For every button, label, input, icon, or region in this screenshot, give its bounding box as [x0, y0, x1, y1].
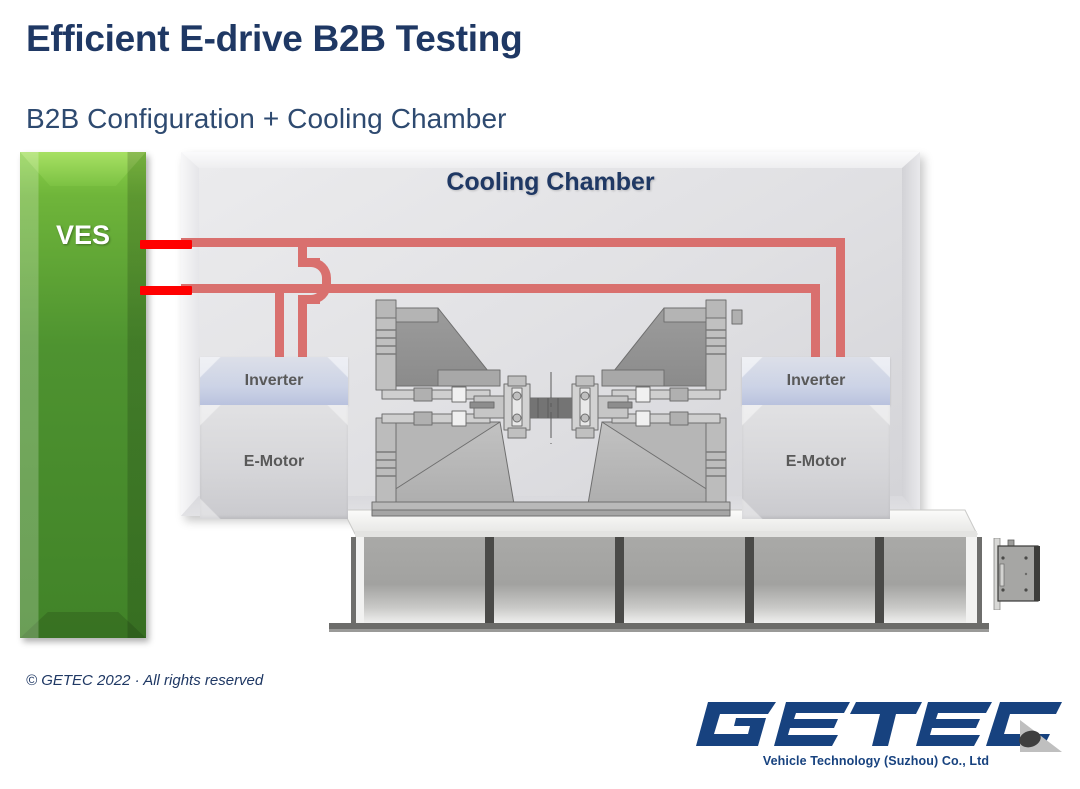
left-motor-block: E-Motor — [200, 405, 348, 519]
back-to-back-dyno-rig — [352, 292, 750, 520]
chamber-bevel-top — [181, 152, 920, 168]
left-inverter-block: Inverter — [200, 357, 348, 405]
left-inverter-label: Inverter — [200, 357, 348, 405]
getec-wordmark-icon — [690, 694, 1062, 756]
chamber-bevel-right — [902, 152, 920, 516]
pipe-right-upper-drop — [836, 238, 845, 359]
left-motor-label: E-Motor — [200, 405, 348, 519]
page-title: Efficient E-drive B2B Testing — [26, 18, 522, 60]
page-subtitle: B2B Configuration + Cooling Chamber — [26, 103, 507, 135]
copyright-notice: © GETEC 2022 · All rights reserved — [26, 672, 263, 689]
ves-block: VES — [20, 152, 146, 638]
getec-logo: Vehicle Technology (Suzhou) Co., Ltd — [690, 694, 1062, 780]
pipe-upper-horizontal — [181, 238, 845, 247]
right-inverter-label: Inverter — [742, 357, 890, 405]
logo-tagline: Vehicle Technology (Suzhou) Co., Ltd — [690, 754, 1062, 768]
pipe-left-branch-b-drop — [275, 284, 284, 359]
ves-pipe-connector-upper — [140, 240, 192, 249]
ves-pipe-connector-lower — [140, 286, 192, 295]
pipe-right-lower-drop — [811, 284, 820, 359]
chamber-title: Cooling Chamber — [181, 168, 920, 197]
ves-bevel-bottom — [20, 612, 146, 638]
unit-stack-right: Inverter E-Motor — [742, 357, 890, 519]
slide-canvas: Efficient E-drive B2B Testing B2B Config… — [0, 0, 1080, 789]
control-box — [988, 538, 1048, 610]
ves-label: VES — [20, 220, 146, 251]
getec-swoosh-icon — [1017, 720, 1062, 752]
pipe-left-branch-a-drop — [298, 295, 307, 359]
right-inverter-block: Inverter — [742, 357, 890, 405]
right-motor-label: E-Motor — [742, 405, 890, 519]
chamber-bevel-left — [181, 152, 199, 516]
unit-stack-left: Inverter E-Motor — [200, 357, 348, 519]
right-motor-block: E-Motor — [742, 405, 890, 519]
